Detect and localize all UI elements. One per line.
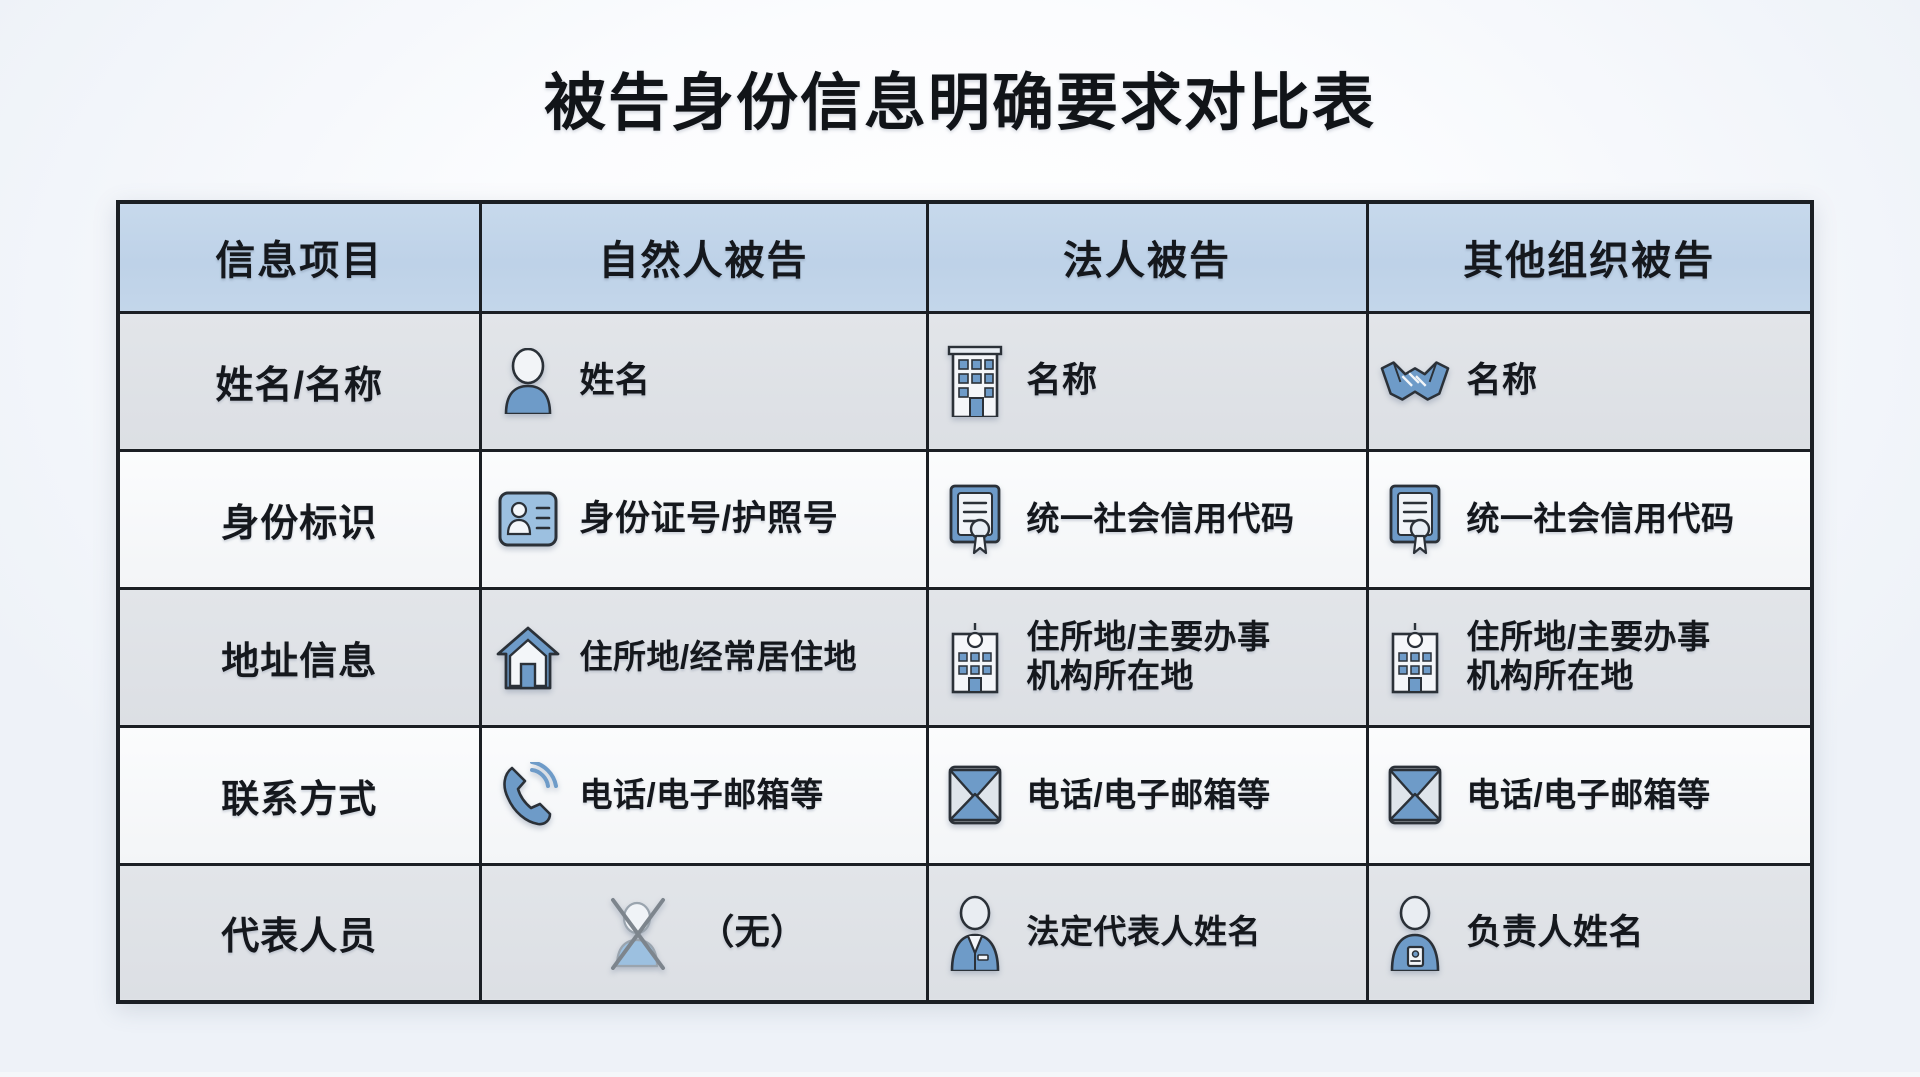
house-icon [492,619,564,695]
table-row: 联系方式 电话/电子邮箱等 [118,726,1812,864]
cell-text: 住所地/主要办事 机构所在地 [1027,618,1271,696]
row-label-representative: 代表人员 [118,864,480,1002]
certificate-icon [1379,481,1451,557]
person-badge-icon [1379,895,1451,971]
phone-icon [492,757,564,833]
column-header-legal: 法人被告 [927,202,1367,312]
cell-other-representative: 负责人姓名 [1367,864,1812,1002]
row-label-name: 姓名/名称 [118,312,480,450]
person-icon [492,343,564,419]
cell-natural-representative: （无） [480,864,927,1002]
cell-text: 名称 [1467,360,1538,401]
page-title: 被告身份信息明确要求对比表 [0,52,1920,142]
cell-text: 住所地/经常居住地 [580,638,858,677]
table-body: 姓名/名称 姓名 [118,312,1812,1002]
table-row: 姓名/名称 姓名 [118,312,1812,450]
building-icon [939,343,1011,419]
office-icon [939,619,1011,695]
cell-other-address: 住所地/主要办事 机构所在地 [1367,588,1812,726]
cell-text: 电话/电子邮箱等 [1467,776,1711,815]
cell-text: 住所地/主要办事 机构所在地 [1467,618,1711,696]
cell-legal-address: 住所地/主要办事 机构所在地 [927,588,1367,726]
comparison-table: 信息项目 自然人被告 法人被告 其他组织被告 姓名/名称 姓名 [116,200,1814,1004]
office-icon [1379,619,1451,695]
cell-text: 姓名 [580,360,651,401]
table-row: 地址信息 住所地/经常居住地 [118,588,1812,726]
cell-other-identity: 统一社会信用代码 [1367,450,1812,588]
cell-text: 负责人姓名 [1467,912,1645,953]
businessperson-icon [939,895,1011,971]
table-header: 信息项目 自然人被告 法人被告 其他组织被告 [118,202,1812,312]
cell-text: （无） [699,912,806,953]
row-label-address: 地址信息 [118,588,480,726]
cell-natural-address: 住所地/经常居住地 [480,588,927,726]
column-header-natural: 自然人被告 [480,202,927,312]
envelope-icon [939,757,1011,833]
cell-text: 统一社会信用代码 [1027,500,1295,539]
cell-legal-name: 名称 [927,312,1367,450]
column-header-item: 信息项目 [118,202,480,312]
cell-natural-contact: 电话/电子邮箱等 [480,726,927,864]
cell-text: 电话/电子邮箱等 [1027,776,1271,815]
table-header-row: 信息项目 自然人被告 法人被告 其他组织被告 [118,202,1812,312]
cell-legal-contact: 电话/电子邮箱等 [927,726,1367,864]
certificate-icon [939,481,1011,557]
cell-other-contact: 电话/电子邮箱等 [1367,726,1812,864]
column-header-other: 其他组织被告 [1367,202,1812,312]
id-card-icon [492,481,564,557]
row-label-contact: 联系方式 [118,726,480,864]
cell-legal-identity: 统一社会信用代码 [927,450,1367,588]
table-row: 代表人员 （无） [118,864,1812,1002]
cell-text: 统一社会信用代码 [1467,500,1735,539]
cell-legal-representative: 法定代表人姓名 [927,864,1367,1002]
table-row: 身份标识 身份证号/护照号 [118,450,1812,588]
person-crossed-out-icon [601,895,673,971]
feather-sketch-icon [1798,824,1920,954]
cell-text: 电话/电子邮箱等 [580,776,824,815]
row-label-identity: 身份标识 [118,450,480,588]
cell-text: 法定代表人姓名 [1027,913,1262,952]
cell-text: 名称 [1027,360,1098,401]
envelope-icon [1379,757,1451,833]
cell-text: 身份证号/护照号 [580,498,839,539]
cell-natural-identity: 身份证号/护照号 [480,450,927,588]
cell-other-name: 名称 [1367,312,1812,450]
handshake-icon [1379,343,1451,419]
cell-natural-name: 姓名 [480,312,927,450]
